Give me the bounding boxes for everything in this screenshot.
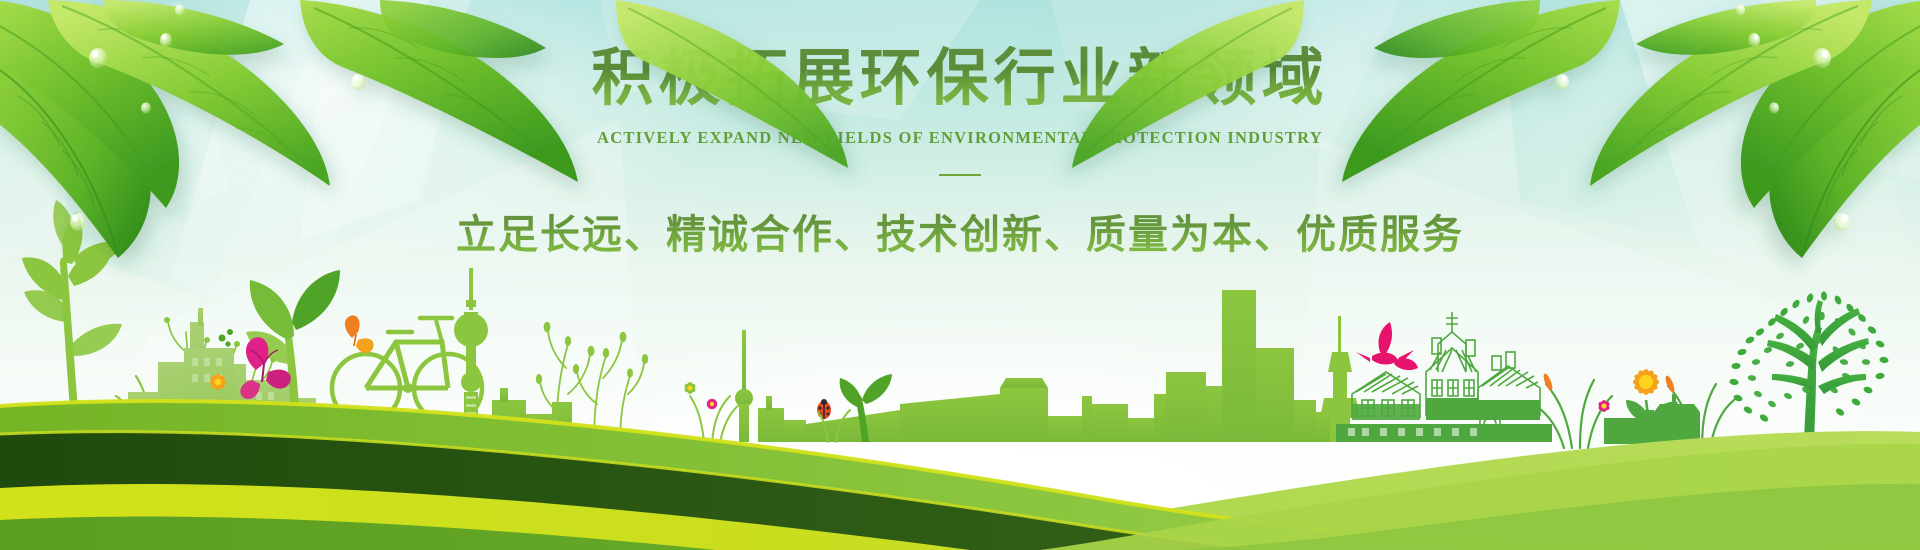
leaf-decorations <box>0 0 1920 550</box>
leaf-cluster-top-left <box>0 0 848 258</box>
environmental-banner: 积极拓展环保行业新领域 ACTIVELY EXPAND NEW FIELDS O… <box>0 0 1920 550</box>
leaf-cluster-top-right <box>1072 0 1920 258</box>
